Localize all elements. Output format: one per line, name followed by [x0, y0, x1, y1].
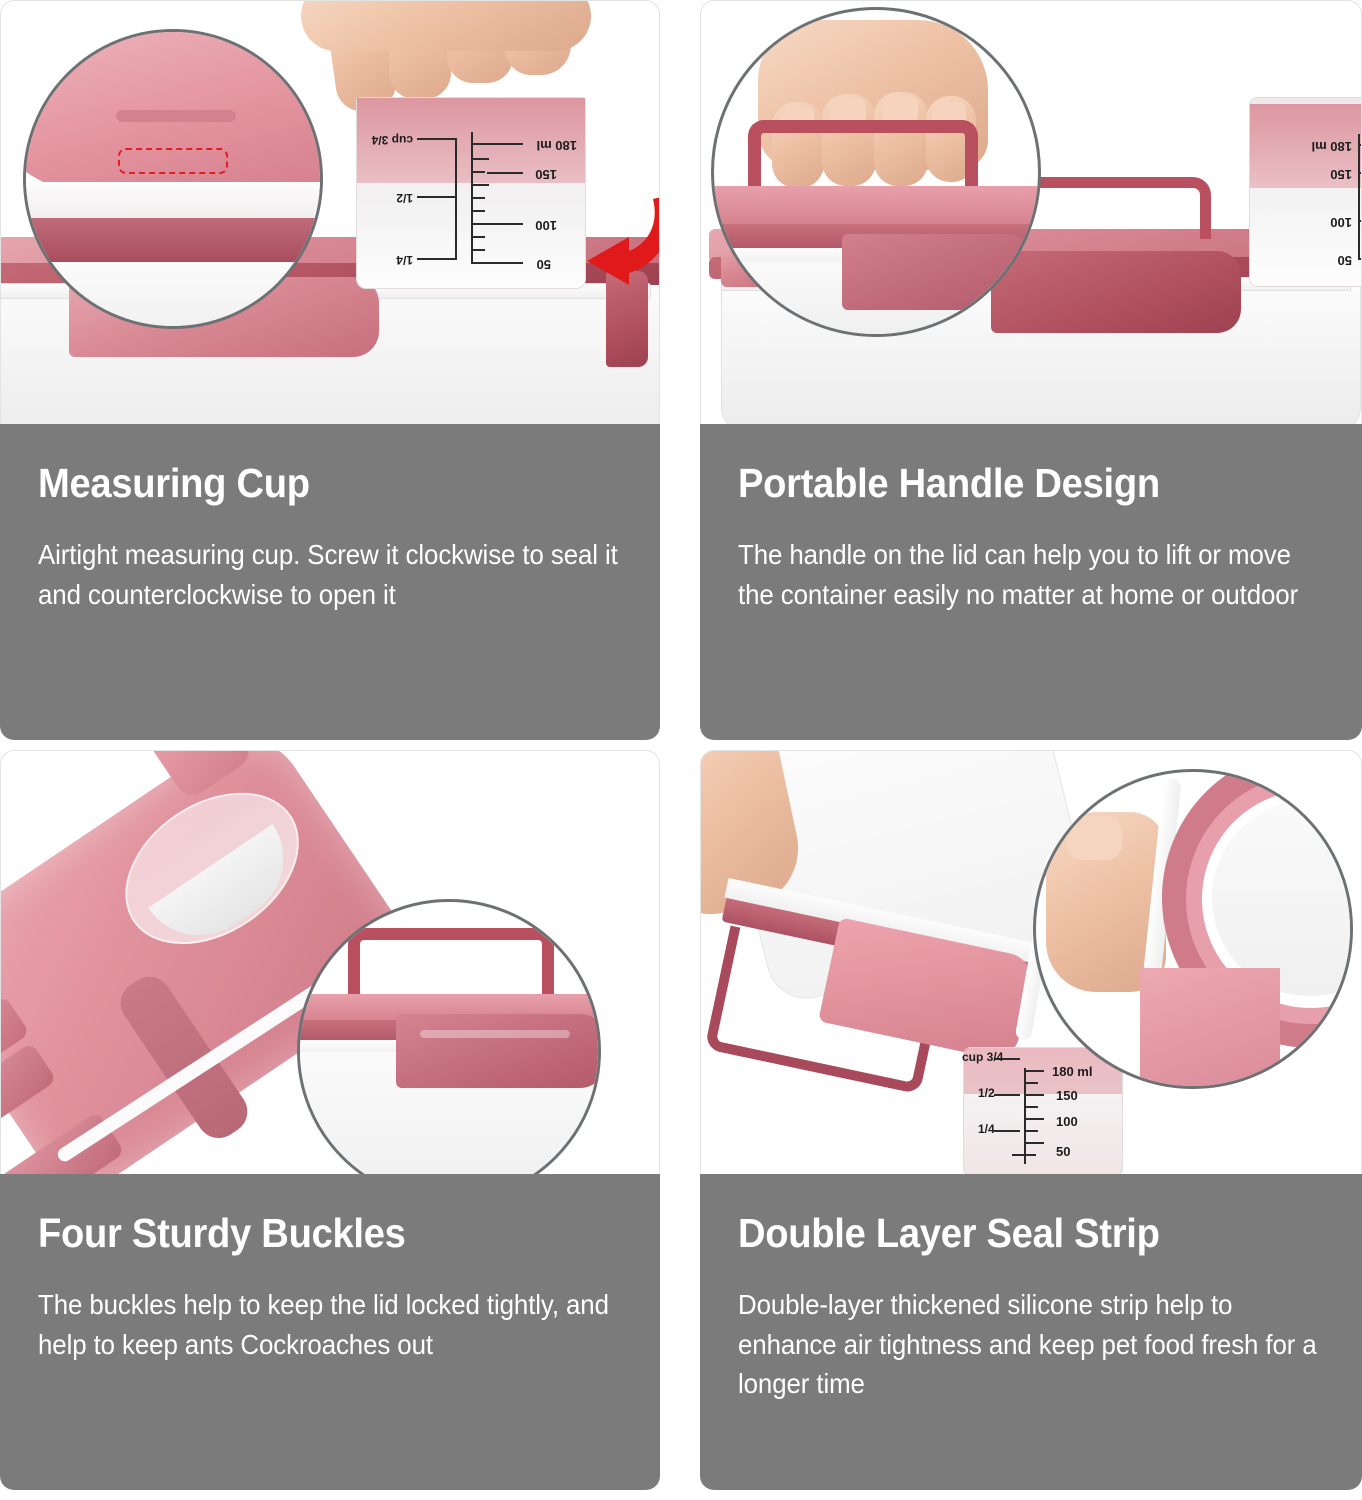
- cup-leader: [487, 143, 523, 145]
- measuring-cup: 180 ml 150 100 50 cup 3/4 1/2 1/4: [963, 1047, 1123, 1174]
- inset-container-body: [23, 262, 323, 329]
- cup-ml-label: 180 ml: [1312, 139, 1352, 154]
- feature-card-four-sturdy-buckles: Four Sturdy Buckles The buckles help to …: [0, 750, 660, 1500]
- inset-thread-ridge: [116, 110, 236, 122]
- cup-ml-label: 50: [1338, 253, 1352, 268]
- cup-tick: [471, 210, 485, 212]
- cup-tick: [471, 184, 489, 186]
- cup-tick: [1358, 172, 1362, 174]
- caption-portable-handle: Portable Handle Design The handle on the…: [700, 424, 1362, 740]
- inset-buckle-closed: [396, 1014, 601, 1088]
- magnifier-inset-screw-thread: [23, 29, 323, 329]
- cup-tick: [471, 158, 489, 160]
- card-body: The buckles help to keep the lid locked …: [38, 1285, 620, 1364]
- inset-carry-handle: [348, 928, 554, 1000]
- inset-buckle: [842, 234, 1032, 310]
- cup-tick: [1024, 1118, 1044, 1120]
- cup-leader: [417, 258, 457, 260]
- card-title: Double Layer Seal Strip: [738, 1212, 1283, 1255]
- cup-leader: [417, 196, 457, 198]
- cup-tick: [1024, 1070, 1044, 1072]
- measuring-cup: 50 100 150 180 ml: [1249, 97, 1362, 287]
- inset-lid-rim: [23, 218, 323, 262]
- cup-leader: [994, 1094, 1020, 1096]
- cup-tick: [471, 249, 485, 251]
- cup-fraction-label: 1/4: [978, 1122, 995, 1136]
- cup-ml-label: 100: [1056, 1114, 1078, 1129]
- cup-scale-axis: [1358, 134, 1360, 260]
- inset-thumbnail: [1066, 816, 1122, 860]
- cup-fraction-label: cup 3/4: [372, 133, 413, 147]
- cup-ml-label: 100: [1330, 215, 1352, 230]
- cup-fraction-label: cup 3/4: [962, 1050, 1003, 1064]
- cup-ml-label: 180 ml: [537, 138, 577, 153]
- hand-knuckles: [301, 0, 591, 51]
- measuring-cup: 50 100 150 180 ml 1/4 1/2 cup 3/4: [356, 97, 586, 289]
- magnifier-inset-hand-grip: [711, 7, 1041, 337]
- cup-tick: [1358, 220, 1362, 222]
- highlight-dashed-outline: [118, 148, 228, 174]
- card-title: Measuring Cup: [38, 462, 581, 505]
- cup-tick: [1358, 144, 1362, 146]
- cup-tick: [471, 236, 485, 238]
- cup-tick: [471, 197, 485, 199]
- card-body: Double-layer thickened silicone strip he…: [738, 1285, 1322, 1404]
- rotation-arrow-icon: [573, 189, 660, 293]
- cup-ml-label: 50: [537, 257, 551, 272]
- cup-ml-label: 100: [535, 218, 557, 233]
- cup-fraction-label: 1/2: [978, 1086, 995, 1100]
- cup-ml-label: 180 ml: [1052, 1064, 1092, 1079]
- feature-card-double-layer-seal-strip: 180 ml 150 100 50 cup 3/4 1/2 1/4: [700, 750, 1362, 1500]
- cup-tick: [1012, 1154, 1036, 1156]
- cup-ml-label: 150: [1056, 1088, 1078, 1103]
- feature-card-measuring-cup: 50 100 150 180 ml 1/4 1/2 cup 3/4: [0, 0, 660, 750]
- caption-four-sturdy-buckles: Four Sturdy Buckles The buckles help to …: [0, 1174, 660, 1490]
- cup-tick: [1024, 1082, 1038, 1084]
- product-photo-four-sturdy-buckles: [0, 750, 660, 1174]
- cup-leader: [487, 262, 523, 264]
- card-title: Four Sturdy Buckles: [38, 1212, 581, 1255]
- inset-lid-body: [1140, 968, 1280, 1089]
- product-photo-double-layer-seal-strip: 180 ml 150 100 50 cup 3/4 1/2 1/4: [700, 750, 1362, 1174]
- feature-grid: 50 100 150 180 ml 1/4 1/2 cup 3/4: [0, 0, 1362, 1500]
- magnifier-inset-seal-groove: [1033, 769, 1353, 1089]
- cup-leader: [417, 138, 457, 140]
- cup-tick: [1024, 1130, 1038, 1132]
- inset-carry-handle: [748, 120, 978, 196]
- inset-seal-ring: [23, 182, 323, 218]
- product-photo-measuring-cup: 50 100 150 180 ml 1/4 1/2 cup 3/4: [0, 0, 660, 424]
- inset-buckle-highlight: [420, 1030, 570, 1038]
- cup-tick: [1358, 258, 1362, 260]
- cup-tick: [471, 171, 485, 173]
- card-title: Portable Handle Design: [738, 462, 1283, 505]
- caption-double-layer-seal-strip: Double Layer Seal Strip Double-layer thi…: [700, 1174, 1362, 1490]
- cup-ml-label: 150: [1330, 167, 1352, 182]
- cup-tick: [1024, 1142, 1044, 1144]
- caption-measuring-cup: Measuring Cup Airtight measuring cup. Sc…: [0, 424, 660, 740]
- cup-leader: [487, 223, 523, 225]
- cup-tick: [1024, 1106, 1038, 1108]
- cup-fraction-label: 1/4: [396, 253, 413, 267]
- inset-lid-top: [711, 186, 1041, 228]
- cup-leader: [487, 172, 523, 174]
- cup-leader: [994, 1130, 1020, 1132]
- card-body: The handle on the lid can help you to li…: [738, 535, 1322, 614]
- card-body: Airtight measuring cup. Screw it clockwi…: [38, 535, 620, 614]
- product-photo-portable-handle: 50 100 150 180 ml: [700, 0, 1362, 424]
- cup-ml-label: 50: [1056, 1144, 1070, 1159]
- cup-ml-label: 150: [535, 167, 557, 182]
- feature-card-portable-handle: 50 100 150 180 ml: [700, 0, 1362, 750]
- cup-tick: [1024, 1094, 1044, 1096]
- cup-fraction-label: 1/2: [396, 191, 413, 205]
- cup-fraction-bracket: [455, 138, 457, 260]
